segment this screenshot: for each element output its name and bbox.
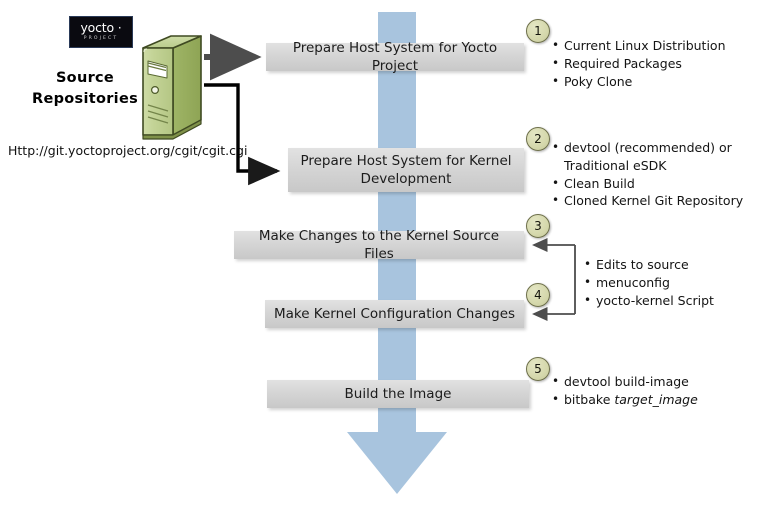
arrow-server-to-step2 — [204, 85, 277, 171]
note-item: bitbake target_image — [552, 391, 762, 409]
step-number-badge-3: 3 — [526, 214, 550, 238]
step-box-make-kernel-config-changes[interactable]: Make Kernel Configuration Changes — [265, 300, 524, 328]
notes-step-5: devtool build-image bitbake target_image — [552, 373, 762, 409]
note-item: Poky Clone — [552, 73, 762, 91]
note-item: Current Linux Distribution — [552, 37, 762, 55]
yocto-logo-wordmark: yocto · — [80, 22, 121, 35]
notes-steps-3-and-4: Edits to source menuconfig yocto-kernel … — [584, 256, 764, 309]
note-item: menuconfig — [584, 274, 764, 292]
note-item: devtool (recommended) or Traditional eSD… — [552, 139, 762, 175]
notes-step-1: Current Linux Distribution Required Pack… — [552, 37, 762, 90]
note-command-prefix: bitbake — [564, 392, 614, 407]
source-label-line-2: Repositories — [30, 89, 140, 110]
note-item: Edits to source — [584, 256, 764, 274]
yocto-project-logo: yocto · PROJECT — [69, 16, 133, 48]
server-tower-icon — [133, 32, 209, 144]
note-item: Cloned Kernel Git Repository — [552, 192, 762, 210]
notes-step-2: devtool (recommended) or Traditional eSD… — [552, 139, 762, 210]
flow-arrow-head — [347, 432, 447, 494]
note-item: devtool build-image — [552, 373, 762, 391]
step-box-prepare-host-kernel[interactable]: Prepare Host System for Kernel Developme… — [288, 148, 524, 192]
step-number-badge-2: 2 — [526, 127, 550, 151]
source-repositories-label: Source Repositories — [30, 68, 140, 110]
flow-arrow-shaft — [378, 12, 416, 436]
note-command-argument: target_image — [614, 392, 697, 407]
step-box-make-kernel-source-changes[interactable]: Make Changes to the Kernel Source Files — [234, 231, 524, 259]
diagram-canvas: yocto · PROJECT Source Repositories Http… — [0, 0, 769, 517]
git-repository-url: Http://git.yoctoproject.org/cgit/cgit.cg… — [8, 143, 247, 158]
step-box-prepare-host-yocto[interactable]: Prepare Host System for Yocto Project — [266, 43, 524, 71]
note-item: yocto-kernel Script — [584, 292, 764, 310]
step-number-badge-4: 4 — [526, 283, 550, 307]
yocto-logo-subtext: PROJECT — [84, 37, 119, 42]
note-item: Clean Build — [552, 175, 762, 193]
step-number-badge-5: 5 — [526, 357, 550, 381]
note-item: Required Packages — [552, 55, 762, 73]
step-number-badge-1: 1 — [526, 19, 550, 43]
step-box-build-the-image[interactable]: Build the Image — [267, 380, 529, 408]
source-label-line-1: Source — [30, 68, 140, 89]
